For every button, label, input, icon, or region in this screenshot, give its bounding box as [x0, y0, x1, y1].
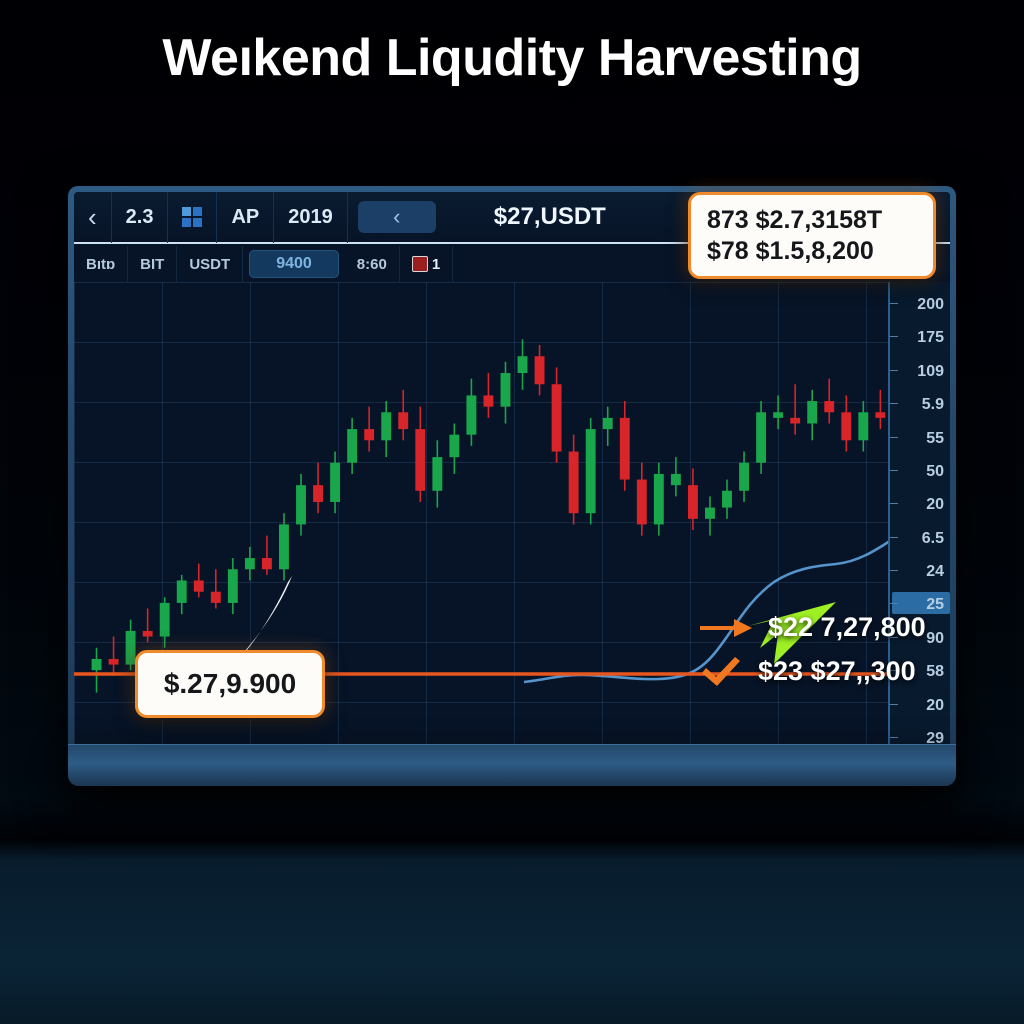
price-axis-label: 24 — [926, 563, 944, 581]
price-axis-label: 50 — [926, 463, 944, 481]
grid-icon[interactable] — [168, 192, 217, 243]
price-axis-label: 109 — [917, 363, 944, 381]
annotation-row-arrow: $22 7,27,800 — [700, 612, 926, 643]
annotation-text-2: $23 $27,,300 — [758, 656, 916, 687]
price-axis-label: 58 — [926, 663, 944, 681]
price-axis-label: 20 — [926, 697, 944, 715]
price-axis-tick — [890, 370, 898, 371]
price-axis-label: 55 — [926, 430, 944, 448]
year-label: 2019 — [274, 192, 348, 243]
price-axis-label: 200 — [917, 296, 944, 314]
page-title: Weıkend Liqudity Harvesting — [0, 28, 1024, 88]
annotation-text-1: $22 7,27,800 — [768, 612, 926, 643]
annotation-row-check: $23 $27,,300 — [700, 656, 916, 687]
price-axis-tick — [890, 603, 898, 604]
price-axis-tick — [890, 437, 898, 438]
callout-top-line2: $78 $1.5,8,200 — [707, 236, 917, 267]
callout-bottom-left: $.27,9.900 — [135, 650, 325, 718]
monitor-stand-bar — [68, 744, 956, 786]
alert-badge[interactable]: 1 — [400, 246, 453, 282]
asset-label[interactable]: BIT — [128, 246, 177, 282]
interval-button[interactable]: 9400 — [249, 250, 339, 278]
callout-top-right: 873 $2.7,3158T $78 $1.5,8,200 — [688, 192, 936, 279]
callout-top-line1: 873 $2.7,3158T — [707, 205, 917, 236]
nav-button[interactable]: ‹ — [358, 201, 436, 233]
price-axis-label: 175 — [917, 329, 944, 347]
price-axis-tick — [890, 537, 898, 538]
price-axis-tick — [890, 704, 898, 705]
price-axis-label: 90 — [926, 630, 944, 648]
price-axis-label: 25 — [926, 596, 944, 614]
price-axis-tick — [890, 336, 898, 337]
price-axis-tick — [890, 503, 898, 504]
price-axis-label: 20 — [926, 496, 944, 514]
price-axis-tick — [890, 470, 898, 471]
back-chevron-icon[interactable]: ‹ — [74, 192, 112, 243]
ap-label: AP — [217, 192, 274, 243]
arrow-right-icon — [700, 616, 752, 640]
price-axis-tick — [890, 303, 898, 304]
alert-count: 1 — [432, 256, 440, 273]
price-axis-tick — [890, 737, 898, 738]
check-icon — [700, 657, 742, 687]
quote-label[interactable]: USDT — [177, 246, 243, 282]
exchange-label[interactable]: Bıtɒ — [74, 246, 128, 282]
price-axis-label: 5.9 — [922, 396, 944, 414]
time-label: 8:60 — [345, 246, 400, 282]
screenshot-root: Weıkend Liqudity Harvesting ‹ 2.3 AP 201… — [0, 0, 1024, 1024]
alert-icon — [412, 256, 428, 272]
price-axis-tick — [890, 403, 898, 404]
price-axis-label: 6.5 — [922, 530, 944, 548]
version-label: 2.3 — [112, 192, 169, 243]
price-axis-tick — [890, 570, 898, 571]
pair-label: $27,USDT — [446, 203, 606, 231]
